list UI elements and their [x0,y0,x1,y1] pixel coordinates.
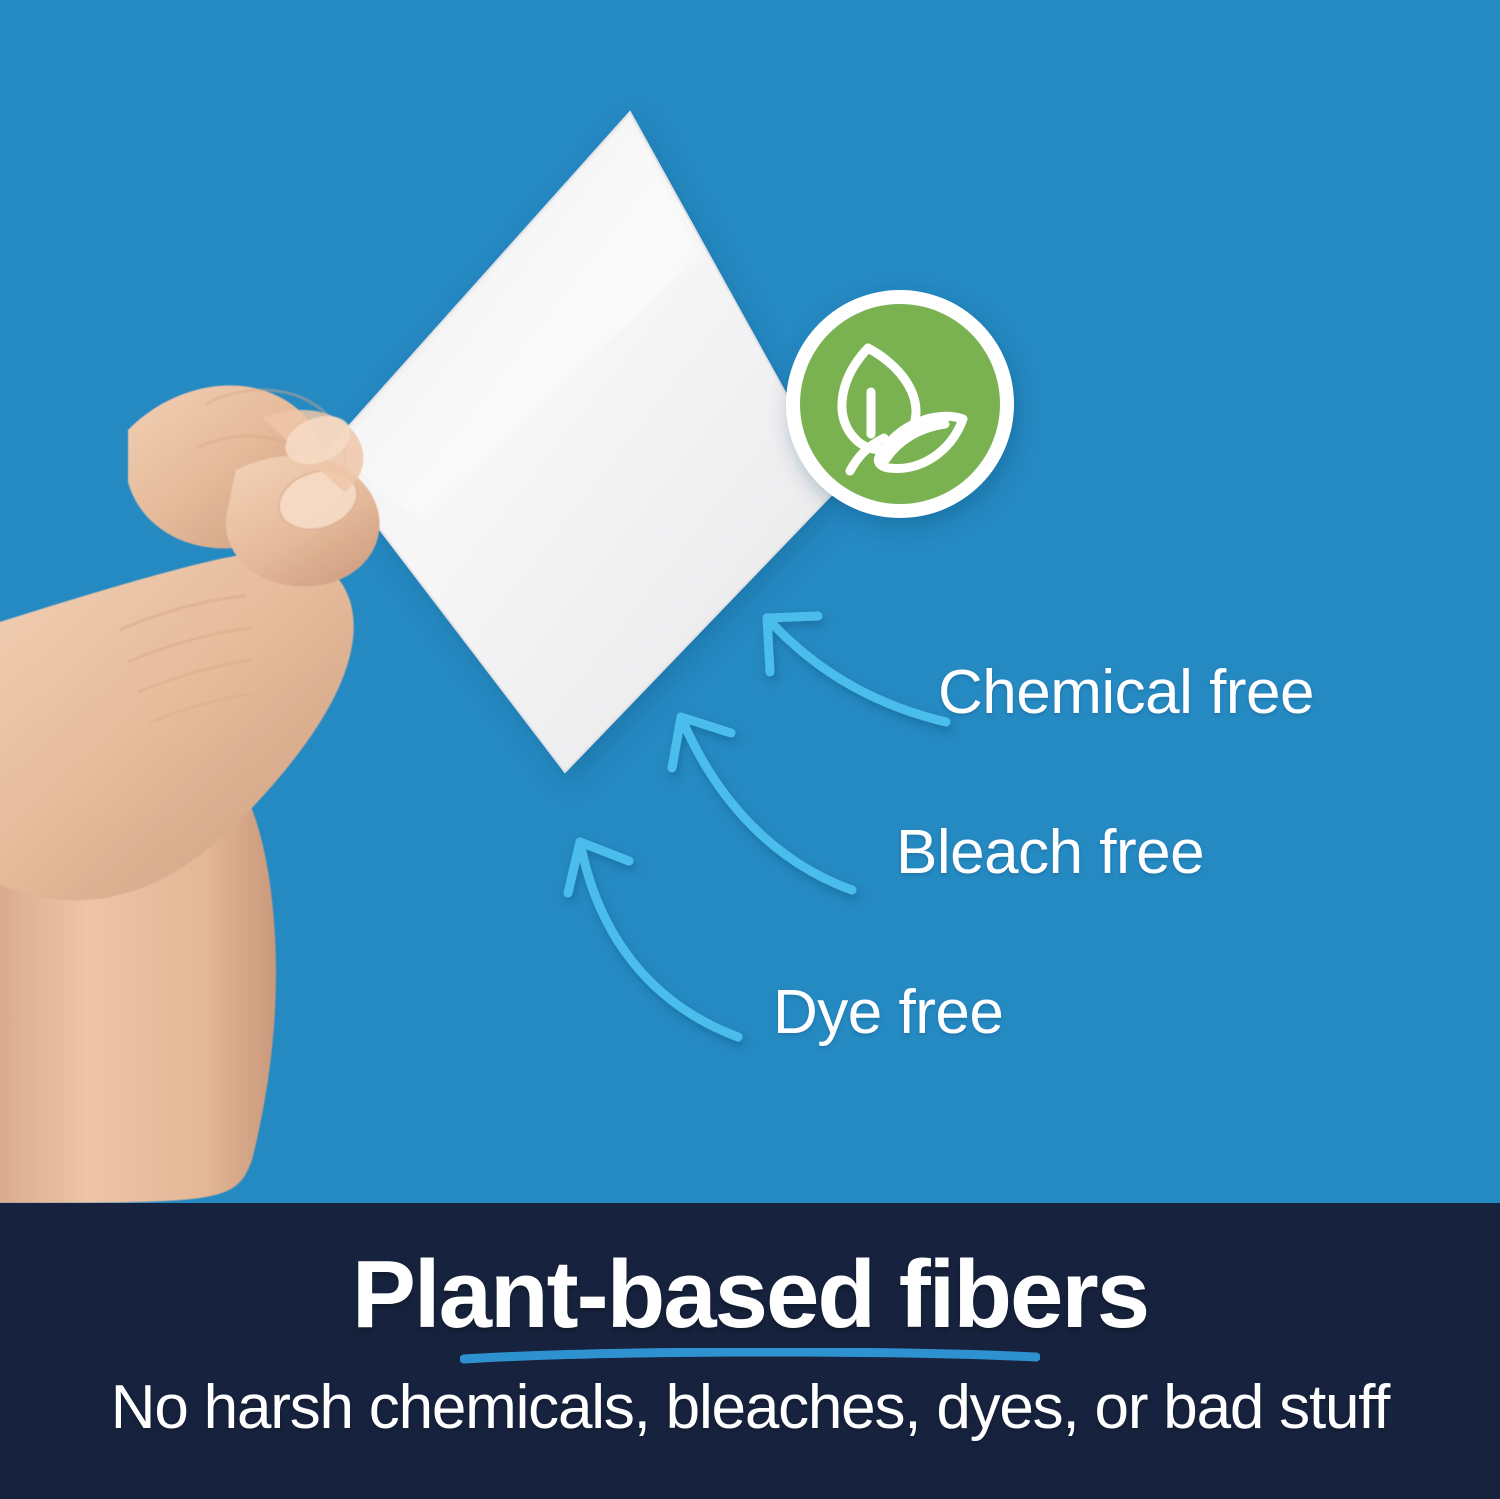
eco-badge [786,290,1014,518]
promo-image: Chemical free Bleach free Dye free Plant… [0,0,1500,1499]
banner-subheading: No harsh chemicals, bleaches, dyes, or b… [111,1377,1389,1439]
feature-label-bleach-free: Bleach free [896,822,1204,884]
banner-heading: Plant-based fibers [352,1247,1148,1343]
hero-illustration [0,0,1500,1203]
bottom-banner: Plant-based fibers No harsh chemicals, b… [0,1203,1500,1499]
hero-panel: Chemical free Bleach free Dye free [0,0,1500,1203]
banner-content: Plant-based fibers No harsh chemicals, b… [0,1203,1500,1499]
feature-label-chemical-free: Chemical free [938,662,1314,724]
eco-badge-circle [800,304,1000,504]
feature-label-dye-free: Dye free [773,982,1003,1044]
